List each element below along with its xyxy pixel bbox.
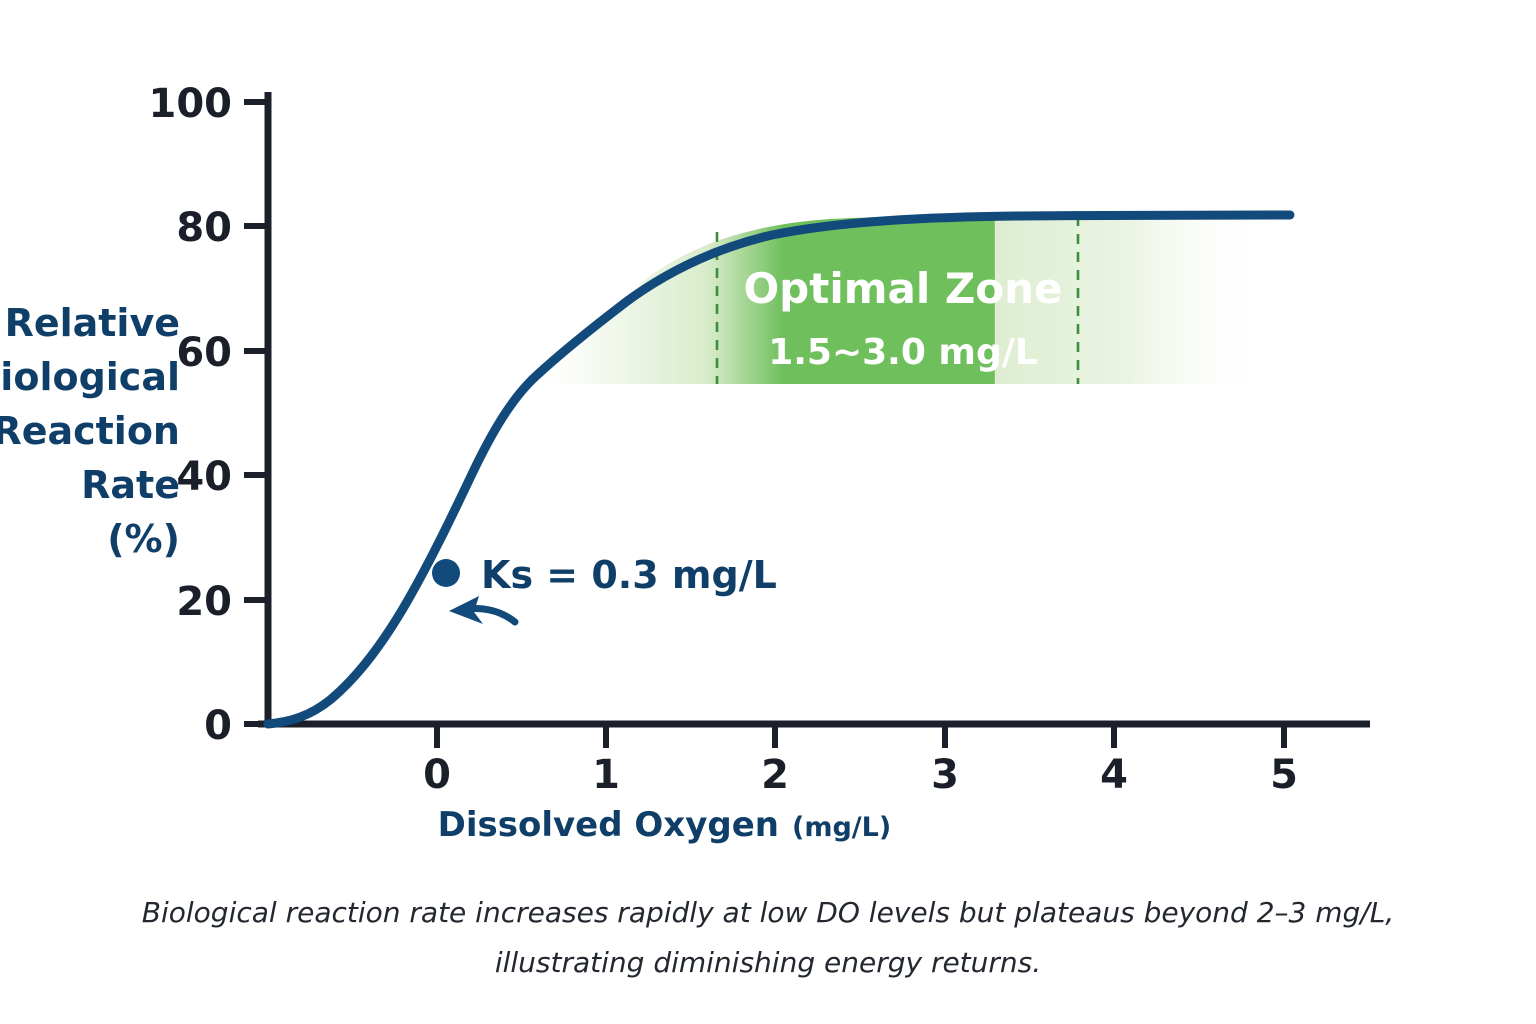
y-tick-label: 0 — [204, 703, 232, 749]
y-axis-ticks — [244, 102, 268, 724]
y-tick-label: 60 — [176, 330, 232, 376]
x-tick-label: 4 — [1100, 752, 1128, 798]
x-tick-label: 1 — [592, 752, 620, 798]
x-axis-title: Dissolved Oxygen (mg/L) — [438, 805, 892, 845]
x-tick-label: 2 — [761, 752, 789, 798]
y-axis-title: Relative Biological Reaction Rate (%) — [0, 301, 180, 561]
y-axis-title-line: Relative — [5, 301, 180, 345]
optimal-zone-title: Optimal Zone — [743, 264, 1062, 313]
x-axis-title-unit: (mg/L) — [792, 812, 891, 843]
ks-label: Ks = 0.3 mg/L — [481, 553, 777, 597]
caption-line-1: Biological reaction rate increases rapid… — [142, 896, 1394, 929]
y-tick-label: 20 — [176, 579, 232, 625]
x-tick-label: 5 — [1270, 752, 1298, 798]
y-axis-title-line: (%) — [107, 517, 180, 561]
y-tick-label: 40 — [176, 454, 232, 500]
x-axis-ticks — [437, 724, 1284, 748]
ks-point-marker — [432, 559, 460, 587]
x-tick-label: 3 — [931, 752, 959, 798]
caption-line-2: illustrating diminishing energy returns. — [495, 946, 1041, 979]
ks-annotation: Ks = 0.3 mg/L — [432, 553, 777, 624]
y-axis-title-line: Reaction — [0, 409, 180, 453]
y-axis-title-line: Rate — [81, 463, 180, 507]
figure-caption: Biological reaction rate increases rapid… — [142, 896, 1394, 979]
x-tick-label: 0 — [423, 752, 451, 798]
chart-figure: 100 80 60 40 20 0 0 1 2 3 4 5 Relative B… — [0, 0, 1536, 1024]
x-tick-labels: 0 1 2 3 4 5 — [423, 752, 1298, 798]
x-axis-title-main: Dissolved Oxygen — [438, 805, 779, 845]
dissolved-oxygen-saturation-chart: 100 80 60 40 20 0 0 1 2 3 4 5 Relative B… — [0, 0, 1536, 1024]
y-axis-title-line: Biological — [0, 355, 180, 399]
optimal-zone-range: 1.5~3.0 mg/L — [768, 332, 1038, 373]
axes — [244, 92, 1370, 748]
y-tick-label: 80 — [176, 205, 232, 251]
y-tick-label: 100 — [149, 81, 233, 127]
